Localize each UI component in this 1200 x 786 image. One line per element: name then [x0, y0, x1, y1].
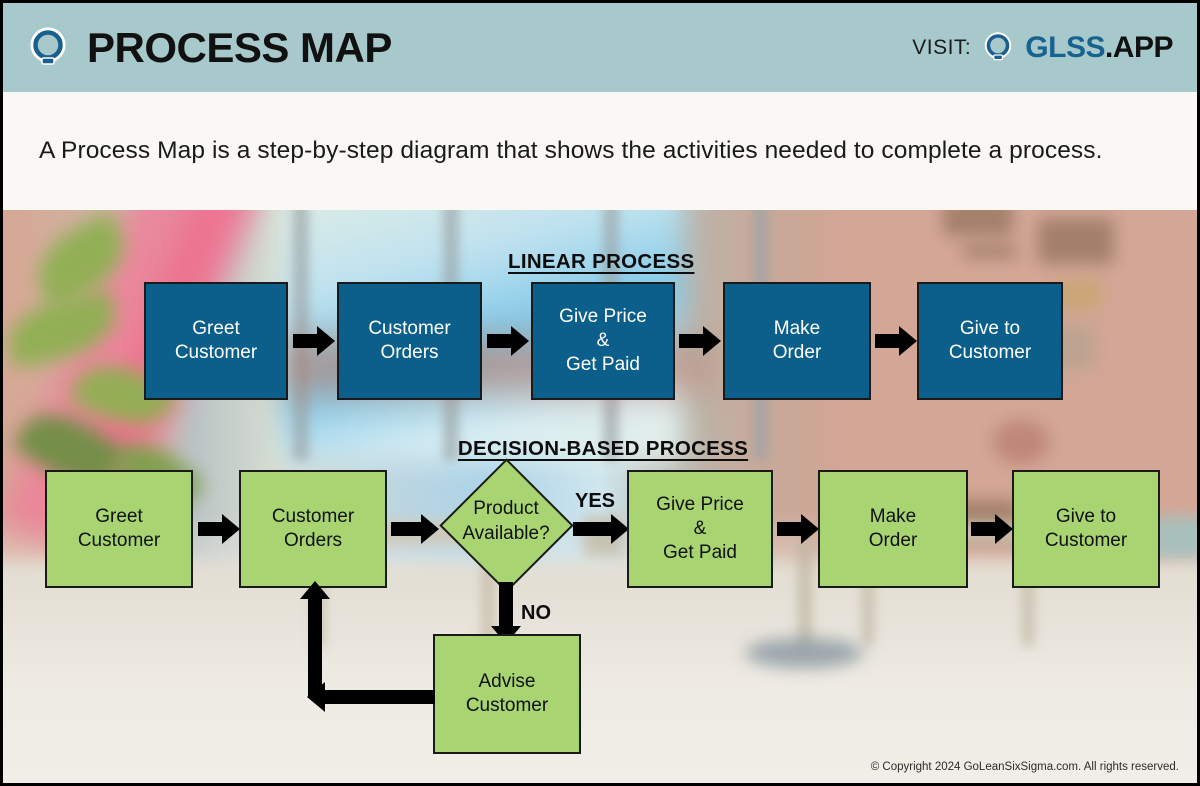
- background-decor: [963, 244, 1017, 258]
- page-title: PROCESS MAP: [87, 24, 392, 72]
- brand-lightbulb-ring-icon: [981, 31, 1015, 65]
- diagram-stage: LINEAR PROCESS Greet Customer Customer O…: [3, 210, 1197, 783]
- linear-node-give-to-customer[interactable]: Give to Customer: [917, 282, 1063, 400]
- decision-node-give-to-customer[interactable]: Give to Customer: [1012, 470, 1160, 588]
- background-table-stem: [799, 540, 811, 650]
- copyright-text: © Copyright 2024 GoLeanSixSigma.com. All…: [871, 761, 1179, 773]
- linear-node-give-price-get-paid[interactable]: Give Price & Get Paid: [531, 282, 675, 400]
- node-label: Give to Customer: [949, 317, 1031, 366]
- decision-node-make-order[interactable]: Make Order: [818, 470, 968, 588]
- branch-label-no: NO: [521, 602, 551, 625]
- node-label: Give to Customer: [1045, 505, 1127, 554]
- node-label: Advise Customer: [466, 670, 548, 719]
- decision-node-customer-orders[interactable]: Customer Orders: [239, 470, 387, 588]
- header-bar: PROCESS MAP VISIT: GLSS.APP: [3, 3, 1197, 92]
- background-decor: [993, 420, 1049, 464]
- description-text: A Process Map is a step-by-step diagram …: [39, 137, 1103, 165]
- brand-wordmark[interactable]: GLSS.APP: [1025, 31, 1173, 65]
- background-table-base: [745, 638, 863, 668]
- node-label: Make Order: [869, 505, 918, 554]
- rework-arrow-vertical: [300, 581, 330, 697]
- linear-node-customer-orders[interactable]: Customer Orders: [337, 282, 482, 400]
- branch-label-yes: YES: [575, 490, 615, 513]
- lightbulb-ring-icon: [25, 25, 71, 71]
- background-floor: [3, 563, 1197, 783]
- node-label: Customer Orders: [272, 505, 354, 554]
- brand-name: GLSS: [1025, 31, 1105, 64]
- visit-brand-group[interactable]: VISIT: GLSS.APP: [912, 31, 1173, 65]
- node-label: Give Price & Get Paid: [559, 305, 647, 378]
- linear-process-title: LINEAR PROCESS: [508, 250, 688, 274]
- brand-tld: .APP: [1105, 31, 1173, 64]
- node-label: Greet Customer: [175, 317, 257, 366]
- description-band: A Process Map is a step-by-step diagram …: [3, 92, 1197, 210]
- linear-node-greet-customer[interactable]: Greet Customer: [144, 282, 288, 400]
- node-label: Customer Orders: [368, 317, 450, 366]
- decision-diamond-label: Product Available?: [446, 497, 566, 546]
- decision-node-give-price-get-paid[interactable]: Give Price & Get Paid: [627, 470, 773, 588]
- node-label: Greet Customer: [78, 505, 160, 554]
- linear-node-make-order[interactable]: Make Order: [723, 282, 871, 400]
- decision-node-greet-customer[interactable]: Greet Customer: [45, 470, 193, 588]
- node-label: Give Price & Get Paid: [656, 493, 744, 566]
- node-label: Make Order: [773, 317, 822, 366]
- decision-process-title: DECISION-BASED PROCESS: [455, 437, 751, 461]
- process-map-infographic: PROCESS MAP VISIT: GLSS.APP A Process Ma…: [0, 0, 1200, 786]
- background-decor: [943, 210, 1013, 236]
- decision-node-advise-customer[interactable]: Advise Customer: [433, 634, 581, 754]
- visit-label: VISIT:: [912, 36, 971, 60]
- background-decor: [1038, 218, 1114, 264]
